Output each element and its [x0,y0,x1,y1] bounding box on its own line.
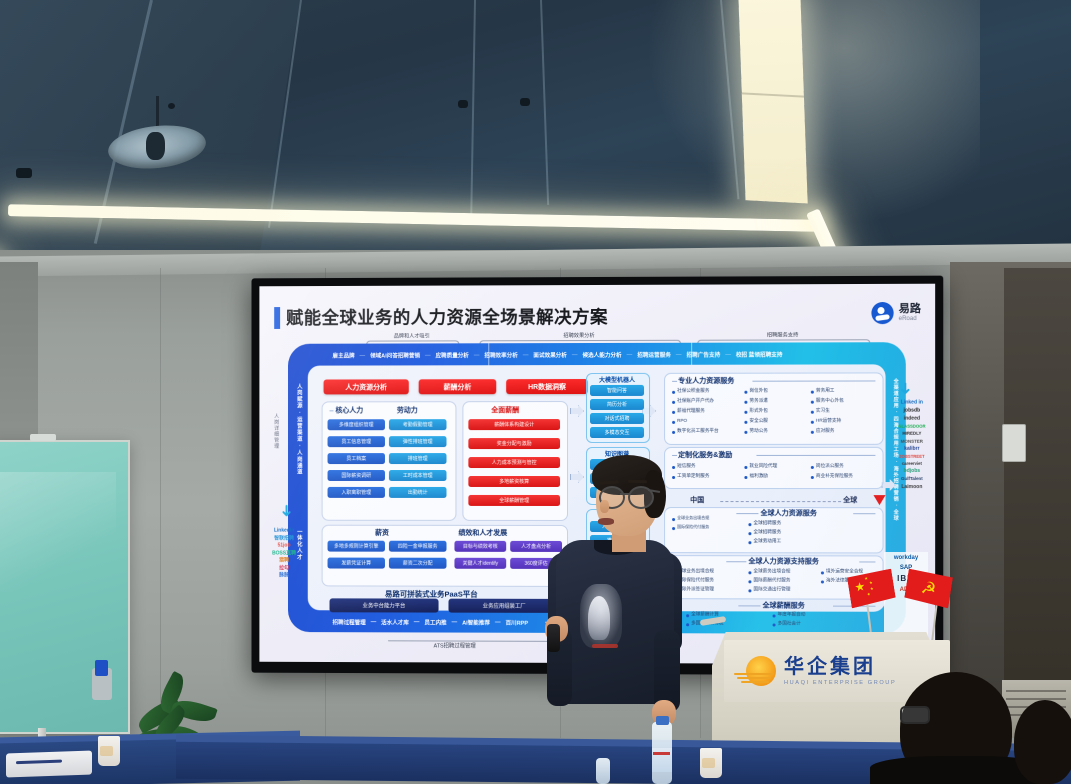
ring-divider [488,343,489,365]
logo-item: bdjobs [904,469,921,474]
logo-item: GLASSDOOR [898,425,925,429]
ring-top-item: 雇主品牌 [332,351,354,359]
down-arrow-icon: ➜ [896,382,912,396]
logo-item: kalibrr [904,447,919,452]
svc-bullet: 薪福代理服务 [672,408,705,414]
logo-item: JOBSTREET [899,455,924,459]
wall-panel [0,262,38,462]
ring-top-item: 招聘效率分析 [484,351,517,359]
paas-bar: 业务应用组装工厂 [448,599,560,613]
svc-bullet: 全球招聘服务 [748,529,781,535]
whiteboard-glare [0,472,116,592]
tech-group-header: 大模型机器人 [586,375,648,384]
labor-item: 工时成本管理 [389,470,447,481]
core-hr-item: 国际薪资调研 [328,470,385,481]
speaker-nose [600,500,609,513]
ring-bottom-item: 百川RPP [506,618,529,626]
ring-top-item: 应聘质量分析 [436,351,469,359]
svc-bullet: 劳务用工 [811,388,835,394]
global-hr-services-header: 全球人力资源服务 [760,508,816,518]
tech-item: 多模态交互 [590,427,644,438]
svc-bullet: 多国社会计 [773,621,801,627]
left-vertical-label: 人岗赋源 · 运营渠道 · 人岗通道 [295,384,303,513]
global-payroll-header: 全球薪酬服务 [762,600,804,610]
tech-item: 简历分析 [590,399,644,410]
water-bottle [596,758,610,784]
svc-bullet: 福利激励 [744,473,768,479]
ceiling-seam [540,0,549,205]
bracket-label-2: 招聘效果分析 [479,332,679,340]
logo-item: LinkedIn [274,529,294,534]
svc-bullet: 岗位派公服务 [811,463,844,469]
payroll-item: 多地多规则计算引擎 [328,541,385,552]
logo-item: careerviet [902,462,922,466]
whiteboard-clip [30,434,56,441]
podium-brand-cn: 华企集团 [784,657,896,677]
labor-item: 弹性排班管理 [389,436,447,447]
ceiling-sensor-icon [520,98,530,106]
svc-bullet: 全球薪务出境合规 [748,568,790,574]
perf-item: 目标与绩效考核 [454,541,506,552]
logo-item: Linked in [901,401,923,406]
perf-item: 人才盘点分析 [510,541,562,552]
ceiling-light-glow [640,0,980,230]
svc-bullet: 劳务派遣 [744,398,768,404]
svc-bullet: 应对服务 [811,428,835,434]
payroll-item: 发薪凭证计算 [328,558,385,569]
ring-bottom-item: AI智能推荐 [462,618,490,626]
total-comp-item: 人力成本预测与管控 [468,457,560,468]
ring-top-item: 校招 蓝领招聘支持 [736,350,783,358]
logo-item: jobsdb [904,409,921,414]
svc-bullet: 安全公服 [744,418,768,424]
ceiling-sensor-icon [458,100,468,108]
global-support-header: 全球人力资源支持服务 [748,556,819,566]
total-comp-item: 薪酬体系构建设计 [468,419,560,430]
svc-bullet: 商业补充保险服务 [811,473,853,479]
svc-bullet: 全球薪酬计算 [686,611,719,617]
svc-bullet-note: 国际保险代付服务 [672,524,709,530]
glasses-icon [900,706,930,724]
logo-item: GulfTalent [901,477,923,481]
paper-cup [98,736,120,766]
ring-top-item: 招聘运营服务 [637,350,671,358]
down-arrow-icon: ➜ [278,504,294,517]
shirt-accent [592,644,618,648]
red-triangle-icon [873,495,885,505]
total-comp-item: 奖金分配与激励 [468,438,560,449]
laptop[interactable] [6,750,92,777]
ceiling-sensor-icon [16,168,32,178]
paas-bar: 业务中台能力平台 [330,598,439,612]
logo-item: BOSS直聘 [272,551,296,556]
sun-logo-icon [746,656,776,686]
core-hr-item: 员工档案 [328,453,385,464]
ring-bottom-item: 员工内推 [424,618,446,626]
region-label-china: 中国 [690,495,704,505]
audience-head [1014,700,1071,784]
slide-title: 赋能全球业务的人力资源全场景解决方案 [286,304,608,330]
logo-item: Laimoon [901,485,922,490]
ring-top-item: 候选人能力分析 [582,350,621,358]
payroll-item: 薪资二次分配 [389,558,447,569]
logo-label-en: eRoad [899,316,921,322]
svc-bullet: 年度年报自动 [773,611,806,617]
total-comp-item: 多地薪资核算 [468,476,560,487]
presenter-clicker[interactable] [547,624,560,652]
logo-item: 51job [278,544,291,549]
svc-bullet: 服务中心外包 [811,398,844,404]
door-panel [1004,268,1071,698]
total-comp-item: 全球薪酬管理 [468,495,560,506]
bottle-cap [656,716,669,725]
total-comp-header: 全面薪酬 [491,405,519,415]
labor-item: 出勤统计 [389,487,447,498]
svc-bullet: 劳动公务 [744,428,768,434]
left-job-logo-strip: LinkedIn 智联招聘 51job BOSS直聘 猎聘 拉勾 脉脉 [267,529,301,579]
svc-bullet: 社保公积金服务 [672,388,709,394]
logo-item: 智联招聘 [274,536,294,541]
perf-header: 绩效和人才发展 [458,528,507,538]
bracket-label-1: 品牌和人才吸引 [366,332,457,339]
bottle-label [652,748,672,772]
red-banner: 人力资源分析 [324,379,409,394]
core-hr-item: 入职离职管理 [328,487,385,498]
vendor-logo: workday [894,555,918,561]
payroll-item: 四险一金申报服务 [389,541,447,552]
svc-bullet: 全球劳动用工 [748,538,781,544]
speaker-mouth [598,518,614,525]
svc-bullet: 数字化员工服务平台 [672,428,719,434]
ats-caption: ATS招聘过程管理 [434,641,476,649]
red-banner: HR数据洞察 [506,379,588,394]
svc-bullet: HR运营支持 [811,418,841,424]
podium-brand-en: HUAQI ENTERPRISE GROUP [784,680,896,686]
pro-hr-services-header: 专业人力资源服务 [678,376,734,386]
labor-item: 排班管理 [389,453,447,464]
ceiling-fan-hub [146,132,165,160]
bracket-label-3: 招聘服务支持 [697,331,868,339]
svc-bullet: 就业风险代理 [744,463,777,469]
core-hr-item: 员工信息管理 [328,436,385,447]
tech-item: 智能问答 [590,385,644,396]
ring-bottom-item: 招聘过程管理 [332,618,365,626]
conference-room-photo: 赋能全球业务的人力资源全场景解决方案 易路 eRoad 品牌和人才吸引 招聘效果… [0,0,1071,784]
svc-bullet: 工资单定制服务 [672,473,709,479]
shirt-graphic-detail [588,596,610,640]
glasses-bridge [620,493,629,495]
ceiling [0,0,1071,268]
core-hr-header: 核心人力 [335,405,363,415]
ring-top-items: 雇主品牌 — 领域AI问答招聘营销 — 应聘质量分析 — 招聘效率分析 — 面试… [310,346,884,362]
eroad-circle-icon [871,302,893,324]
tech-item: 对话式招聘 [590,413,644,424]
speaker-eyebrow [628,480,647,484]
perf-item: 关键人才identify [454,558,506,569]
wall-seam [160,268,161,738]
logo-item: HIREDLY [902,432,921,436]
logo-item: MONSTER [901,439,923,443]
ring-divider [691,343,692,365]
ring-top-item: 领域AI问答招聘营销 [370,351,420,359]
region-label-global: 全球 [843,495,857,505]
ring-top-item: 面试效果分析 [533,351,567,359]
svc-bullet: 社保账户开户代办 [672,398,714,404]
svc-bullet: 国际薪酬代付服务 [748,577,790,583]
logo-item: indeed [904,417,920,422]
outer-vertical-label: 人岗详细管理 [273,413,280,502]
marker-icon[interactable] [95,660,108,676]
title-accent-bar [274,307,280,329]
logo-label-cn: 易路 [899,304,921,315]
ceiling-light-panel [738,0,807,203]
svc-bullet: 岗位外包 [744,388,768,394]
payroll-header: 薪资 [375,528,389,538]
labor-header: 劳动力 [397,405,418,415]
svc-bullet: 国际交通出行管理 [748,586,790,592]
svc-bullet: 形式外包 [744,408,768,414]
logo-item: 脉脉 [279,573,289,578]
core-hr-item: 多维度组织管理 [328,419,385,430]
eroad-logo: 易路 eRoad [871,302,921,324]
svc-bullet: 境外运营安全合规 [821,568,863,574]
custom-services-header: 定制化服务&激励 [678,450,732,460]
logo-item: 猎聘 [279,558,289,563]
svc-bullet: 实习生 [811,408,830,414]
red-banner: 薪酬分析 [419,379,497,394]
svc-bullet: RPO [672,418,687,423]
thermostat-icon[interactable] [1002,424,1026,462]
svc-bullet-note: 全球业务出境合规 [672,515,709,521]
right-job-logo-strip: Linked in jobsdb indeed GLASSDOOR HIREDL… [895,401,929,490]
payroll-perf-panel [322,525,568,587]
svc-bullet: 全球招聘服务 [748,520,781,526]
logo-item: 拉勾 [279,566,289,571]
svc-bullet: 短信服务 [672,463,695,469]
ceiling-fixture-dot [168,103,175,109]
ring-bottom-item: 活水人才库 [381,618,409,626]
paper-cup [700,748,722,778]
ceiling-seam [470,0,476,215]
labor-item: 考勤假勤管理 [389,419,447,430]
